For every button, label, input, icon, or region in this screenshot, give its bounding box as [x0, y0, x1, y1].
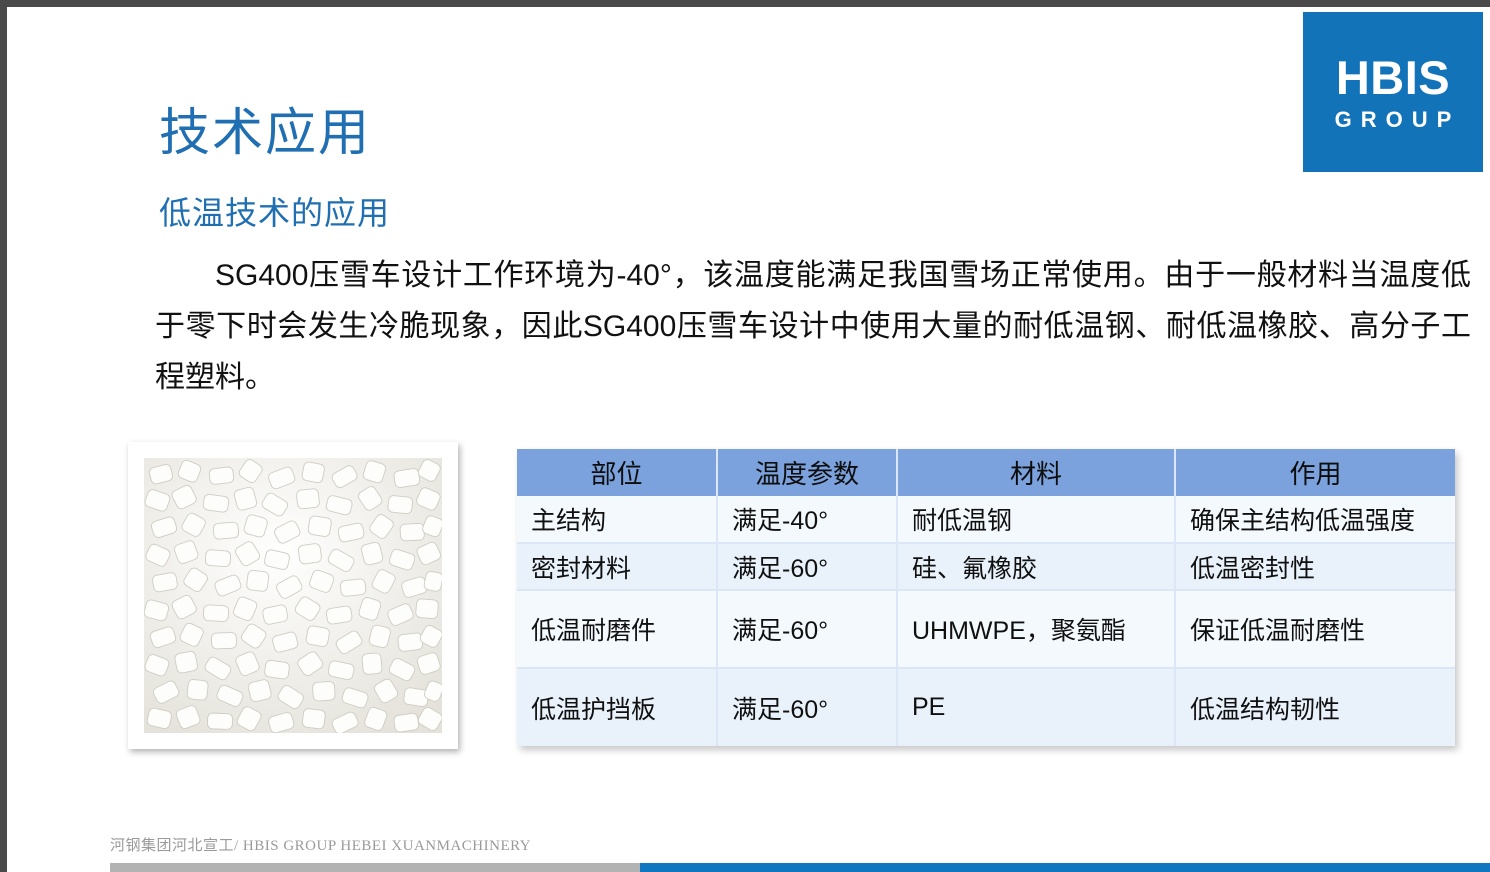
cell-function: 确保主结构低温强度	[1175, 496, 1455, 543]
cell-part: 低温护挡板	[517, 668, 717, 746]
cell-material: 硅、氟橡胶	[897, 543, 1175, 590]
cell-part: 主结构	[517, 496, 717, 543]
pellets-illustration	[144, 458, 442, 733]
photo-image	[144, 458, 442, 733]
hbis-group-logo: HBIS GROUP	[1303, 12, 1483, 172]
cell-temp: 满足-40°	[717, 496, 897, 543]
cell-function: 低温结构韧性	[1175, 668, 1455, 746]
cell-material: PE	[897, 668, 1175, 746]
cell-material: UHMWPE，聚氨酯	[897, 590, 1175, 668]
table-row: 低温耐磨件 满足-60° UHMWPE，聚氨酯 保证低温耐磨性	[517, 590, 1455, 668]
column-header-function: 作用	[1175, 449, 1455, 496]
table-row: 密封材料 满足-60° 硅、氟橡胶 低温密封性	[517, 543, 1455, 590]
cell-temp: 满足-60°	[717, 590, 897, 668]
cell-temp: 满足-60°	[717, 668, 897, 746]
cell-function: 保证低温耐磨性	[1175, 590, 1455, 668]
low-temperature-materials-table: 部位 温度参数 材料 作用 主结构 满足-40° 耐低温钢 确保主结构低温强度 …	[517, 449, 1455, 746]
cell-part: 低温耐磨件	[517, 590, 717, 668]
footer-bar-blue-segment	[640, 863, 1490, 872]
plastic-pellets-photo	[128, 442, 458, 749]
slide: HBIS GROUP 技术应用 低温技术的应用 SG400压雪车设计工作环境为-…	[0, 0, 1490, 872]
cell-material: 耐低温钢	[897, 496, 1175, 543]
column-header-material: 材料	[897, 449, 1175, 496]
column-header-temp: 温度参数	[717, 449, 897, 496]
footer-bar-gray-segment	[110, 863, 640, 872]
logo-subwordmark: GROUP	[1326, 109, 1461, 131]
page-title: 技术应用	[159, 105, 371, 161]
cell-function: 低温密封性	[1175, 543, 1455, 590]
footer-bar	[110, 863, 1490, 872]
table-row: 低温护挡板 满足-60° PE 低温结构韧性	[517, 668, 1455, 746]
cell-temp: 满足-60°	[717, 543, 897, 590]
logo-wordmark: HBIS	[1336, 54, 1450, 101]
table-row: 主结构 满足-40° 耐低温钢 确保主结构低温强度	[517, 496, 1455, 543]
table-header-row: 部位 温度参数 材料 作用	[517, 449, 1455, 496]
footer-company-text: 河钢集团河北宣工/ HBIS GROUP HEBEI XUANMACHINERY	[110, 834, 531, 855]
page-subtitle: 低温技术的应用	[159, 195, 390, 232]
cell-part: 密封材料	[517, 543, 717, 590]
column-header-part: 部位	[517, 449, 717, 496]
body-paragraph: SG400压雪车设计工作环境为-40°，该温度能满足我国雪场正常使用。由于一般材…	[155, 250, 1471, 403]
